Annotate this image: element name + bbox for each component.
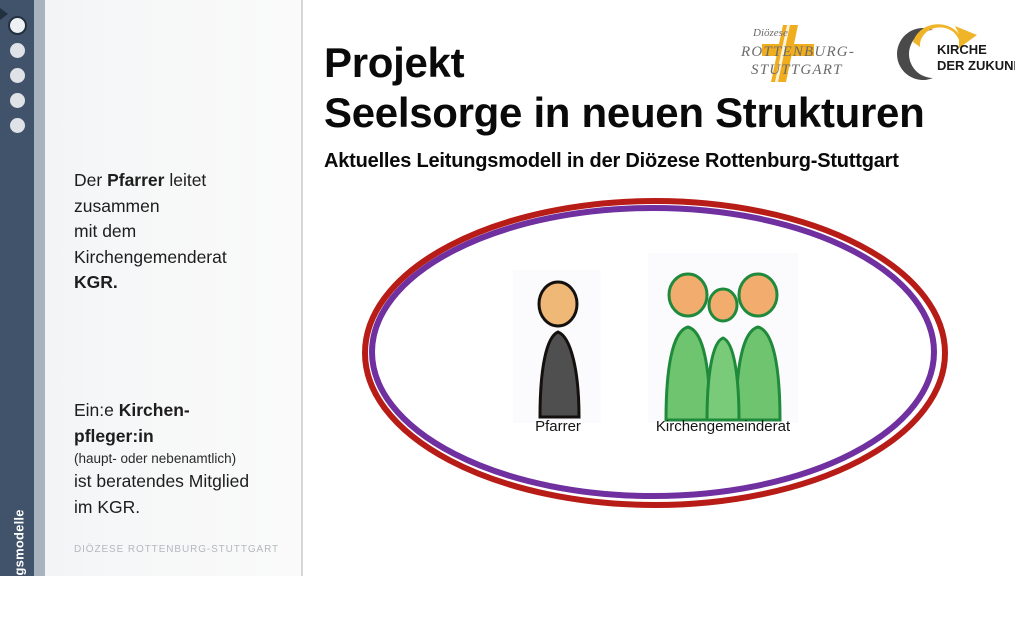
kdz-logo-line2: DER ZUKUNFT [937, 58, 1015, 73]
dioezese-rottenburg-stuttgart-logo: Diözese ROTTENBURG- STUTTGART [728, 22, 883, 84]
panel-b1-line1-prefix: Der [74, 170, 107, 190]
panel-footer-credit: DIÖZESE ROTTENBURG-STUTTGART [74, 544, 279, 555]
left-info-panel: Leitungsmodelle Der Pfarrer leitet zusam… [0, 0, 302, 576]
kirche-der-zukunft-logo: KIRCHE DER ZUKUNFT [897, 22, 1015, 84]
page-title-line-2: Seelsorge in neuen Strukturen [324, 88, 924, 138]
panel-b1-line1-bold: Pfarrer [107, 170, 164, 190]
dioezese-logo-word-small: Diözese [752, 27, 788, 39]
slide-main-area: Projekt Seelsorge in neuen Strukturen Ak… [303, 0, 1024, 576]
slide-root: Leitungsmodelle Der Pfarrer leitet zusam… [0, 0, 1024, 576]
slide-dot-3[interactable] [10, 68, 25, 83]
panel-b1-line2: zusammen [74, 196, 160, 216]
slide-dot-2[interactable] [10, 43, 25, 58]
page-title-line-1: Projekt [324, 38, 464, 88]
slide-dot-5[interactable] [10, 118, 25, 133]
current-slide-pointer-icon [0, 8, 8, 20]
panel-b2-line4: ist beratendes Mitglied [74, 471, 249, 491]
slide-dot-1[interactable] [8, 16, 27, 35]
panel-b2-line3-small: (haupt- oder nebenamtlich) [74, 449, 302, 469]
kgr-head-left [669, 274, 707, 316]
diagram-svg [303, 185, 1024, 576]
figure-label-kirchengemeinderat: Kirchengemeinderat [633, 418, 813, 435]
kgr-head-middle [709, 289, 737, 321]
slide-navigation-rail[interactable]: Leitungsmodelle [0, 0, 34, 576]
pfarrer-head [539, 282, 577, 326]
rail-edge-strip [34, 0, 45, 576]
dioezese-logo-line2: STUTTGART [751, 62, 843, 78]
slide-dot-4[interactable] [10, 93, 25, 108]
panel-b2-line1-bold: Kirchen- [119, 400, 190, 420]
panel-b1-line1-suffix: leitet [164, 170, 206, 190]
page-subtitle: Aktuelles Leitungsmodell in der Diözese … [324, 150, 899, 173]
panel-b2-line1-prefix: Ein:e [74, 400, 119, 420]
panel-b1-line3: mit dem [74, 221, 136, 241]
kgr-head-right [739, 274, 777, 316]
kdz-logo-line1: KIRCHE [937, 42, 987, 57]
panel-b2-line2-bold: pfleger:in [74, 426, 154, 446]
panel-text-block-kirchenpfleger: Ein:e Kirchen- pfleger:in (haupt- oder n… [74, 398, 302, 520]
panel-text-block-pfarrer: Der Pfarrer leitet zusammen mit dem Kirc… [74, 168, 302, 296]
panel-b2-line5: im KGR. [74, 497, 140, 517]
leadership-model-diagram: Pfarrer Kirchengemeinderat [303, 185, 1024, 576]
dioezese-logo-line1: ROTTENBURG- [740, 44, 855, 60]
panel-b1-line5: KGR. [74, 272, 118, 292]
figure-label-pfarrer: Pfarrer [493, 418, 623, 435]
rail-section-label: Leitungsmodelle [12, 503, 27, 623]
panel-b1-line4: Kirchengemenderat [74, 247, 227, 267]
